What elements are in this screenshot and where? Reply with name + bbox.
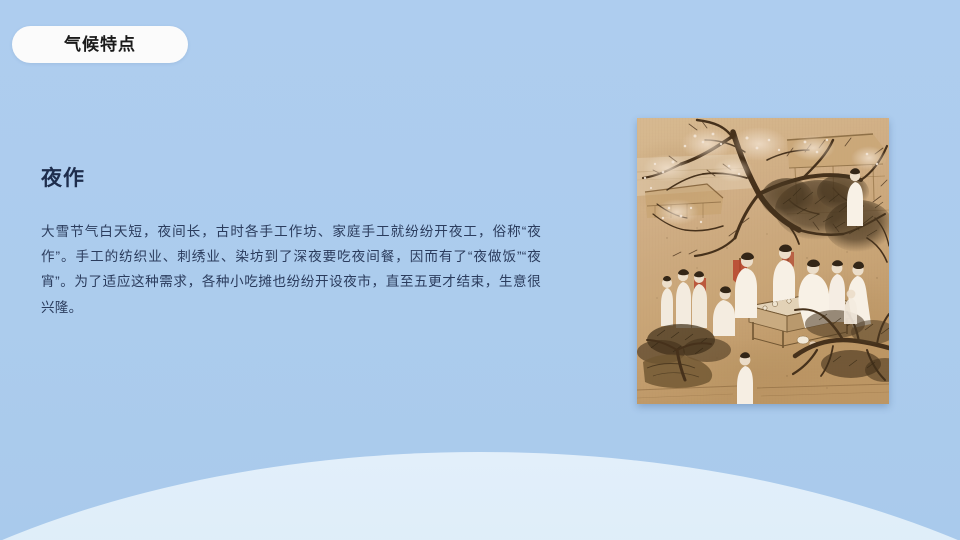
bottom-wave-decoration [0,430,960,540]
slide-canvas: 气候特点 夜作 大雪节气白天短，夜间长，古时各手工作坊、家庭手工就纷纷开夜工，俗… [0,0,960,540]
section-title-pill[interactable]: 气候特点 [12,26,188,63]
section-title-label: 气候特点 [64,36,136,53]
content-heading: 夜作 [41,166,561,191]
classical-painting-image [637,118,889,404]
illustration-frame[interactable] [637,118,889,404]
content-text-block: 夜作 大雪节气白天短，夜间长，古时各手工作坊、家庭手工就纷纷开夜工，俗称“夜作”… [41,166,561,320]
content-paragraph: 大雪节气白天短，夜间长，古时各手工作坊、家庭手工就纷纷开夜工，俗称“夜作”。手工… [41,219,541,320]
wave-shape [0,452,960,540]
